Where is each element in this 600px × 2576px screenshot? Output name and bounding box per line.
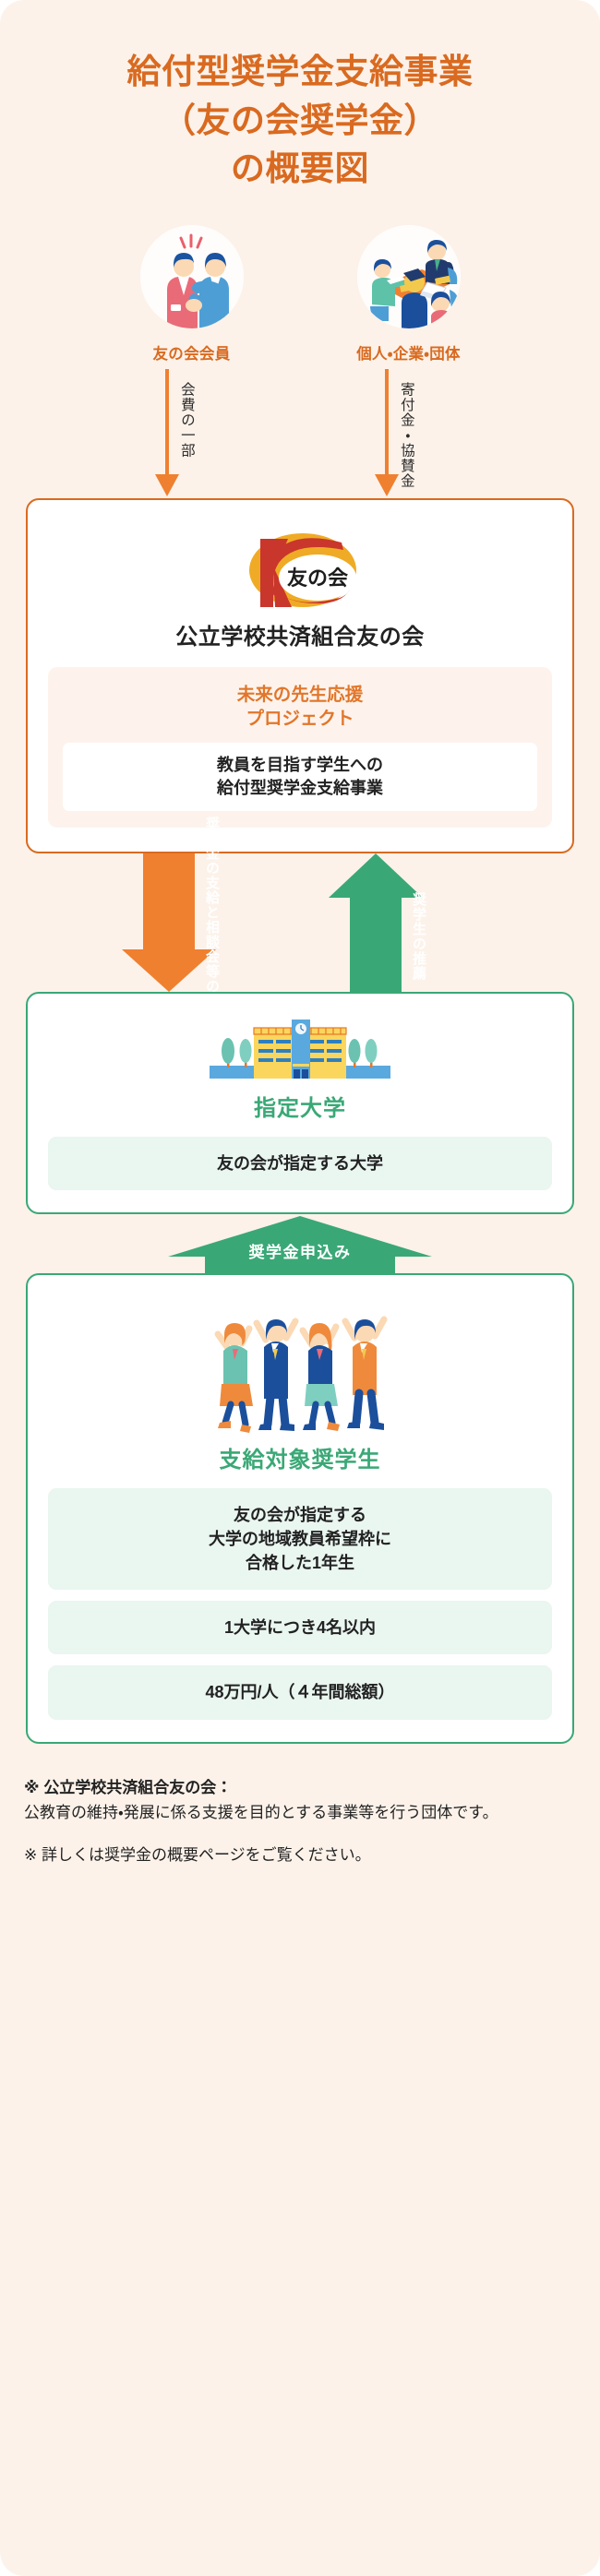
funding-flow-arrows: 会費の一部 寄付金・協賛金 [0,369,600,498]
arrow-head-down-icon [155,474,179,496]
membership-fee-label: 会費の一部 [177,382,195,459]
source-individuals-companies-groups: 個人・企業・団体 [314,225,503,364]
source-tomonokai-members: 友の会会員 [97,225,286,364]
student-detail-quota: 1大学につき4名以内 [48,1601,552,1654]
organization-name: 公立学校共済組合友の会 [48,618,552,650]
university-title: 指定大学 [48,1090,552,1122]
org-university-flow-arrows: 奨学金の支給と相談会等の支援 奨学生の推薦 [0,853,600,992]
scholarship-support-down-arrow: 奨学金の支給と相談会等の支援 [118,853,220,992]
membership-fee-arrow: 会費の一部 [162,369,218,498]
infographic-page: 給付型奨学金支給事業 （友の会奨学金） の概要図 [0,0,600,2576]
page-title: 給付型奨学金支給事業 （友の会奨学金） の概要図 [0,0,600,194]
arrow-head-down-icon [375,474,399,496]
footnote-1-body: 公教育の維持・発展に係る支援を目的とする事業等を行う団体です。 [24,1800,576,1826]
page-title-line-1: 給付型奨学金支給事業 [28,48,572,97]
footnote-organization: ※ 公立学校共済組合友の会： 公教育の維持・発展に係る支援を目的とする事業等を行… [24,1775,576,1826]
project-box: 未来の先生応援 プロジェクト 教員を目指す学生への 給付型奨学金支給事業 [48,667,552,828]
footnote-details-link: ※ 詳しくは奨学金の概要ページをご覧ください。 [24,1843,576,1868]
school-building-illustration [208,1018,392,1082]
student-detail-eligibility: 友の会が指定する 大学の地域教員希望枠に 合格した1年生 [48,1488,552,1590]
project-detail-line-1: 教員を目指す学生への [217,756,383,774]
donation-arrow: 寄付金・協賛金 [382,369,438,498]
student-recommendation-label: 奨学生の推薦 [325,890,426,983]
arrow-stem [385,369,389,478]
footnotes: ※ 公立学校共済組合友の会： 公教育の維持・発展に係る支援を目的とする事業等を行… [24,1775,576,1868]
scholarship-support-label: 奨学金の支給と相談会等の支援 [118,874,220,966]
donation-label: 寄付金・協賛金 [397,382,414,489]
footnote-2-head: ※ 詳しくは奨学金の概要ページをご覧ください。 [24,1846,371,1864]
student-detail-amount: 48万円/人（４年間総額） [48,1665,552,1719]
funding-sources-row: 友の会会員 [0,225,600,364]
students-card: 支給対象奨学生 友の会が指定する 大学の地域教員希望枠に 合格した1年生 1大学… [26,1273,574,1743]
scholarship-application-arrow: 奨学金申込み [0,1214,600,1273]
arrow-stem [165,369,169,478]
organization-card: 友の会 公立学校共済組合友の会 未来の先生応援 プロジェクト 教員を目指す学生へ… [26,498,574,853]
project-title: 未来の先生応援 プロジェクト [63,683,537,732]
page-title-line-3: の概要図 [28,145,572,194]
meeting-illustration [357,225,461,328]
page-title-line-2: （友の会奨学金） [28,97,572,146]
jumping-students-illustration [194,1303,406,1434]
project-title-line-2: プロジェクト [246,709,354,729]
logo-text: 友の会 [287,566,349,590]
university-detail: 友の会が指定する大学 [48,1137,552,1190]
handshake-illustration [140,225,244,328]
source-label-members: 友の会会員 [97,341,286,364]
scholarship-application-label: 奨学金申込み [0,1239,600,1262]
university-card: 指定大学 友の会が指定する大学 [26,992,574,1214]
project-detail: 教員を目指す学生への 給付型奨学金支給事業 [63,743,537,811]
tomonokai-logo: 友の会 [231,526,369,614]
project-title-line-1: 未来の先生応援 [237,685,364,705]
student-recommendation-up-arrow: 奨学生の推薦 [325,853,426,992]
students-title: 支給対象奨学生 [48,1441,552,1473]
footnote-1-head: ※ 公立学校共済組合友の会： [24,1779,232,1796]
project-detail-line-2: 給付型奨学金支給事業 [217,779,383,797]
source-label-donors: 個人・企業・団体 [314,341,503,364]
